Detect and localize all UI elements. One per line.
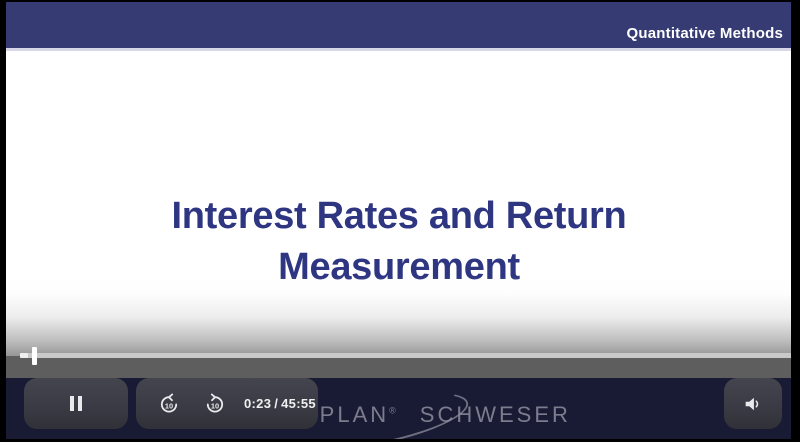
svg-text:10: 10 <box>165 401 173 410</box>
slide-stage: Quantitative Methods Interest Rates and … <box>6 0 792 442</box>
frame-border-top <box>0 0 800 2</box>
rewind-10-button[interactable]: 10 <box>154 389 184 419</box>
seek-bar-handle[interactable] <box>32 347 37 365</box>
rewind-10-icon: 10 <box>157 392 181 416</box>
forward-10-icon: 10 <box>203 392 227 416</box>
frame-border-left <box>0 0 6 442</box>
slide-title: Interest Rates and Return Measurement <box>6 191 792 293</box>
time-separator: / <box>271 396 281 411</box>
svg-text:10: 10 <box>211 401 219 410</box>
forward-10-button[interactable]: 10 <box>200 389 230 419</box>
time-display: 0:23/45:55 <box>244 396 316 411</box>
slide-title-line-2: Measurement <box>6 242 792 293</box>
seek-bar[interactable] <box>20 347 792 363</box>
current-time: 0:23 <box>244 396 271 411</box>
playback-controls-panel: 10 10 0:23/45:55 <box>136 378 318 429</box>
slide-header-title: Quantitative Methods <box>626 25 783 42</box>
total-time: 45:55 <box>281 396 316 411</box>
volume-button[interactable] <box>724 378 782 429</box>
frame-border-right <box>791 0 800 442</box>
slide-title-line-1: Interest Rates and Return <box>6 191 792 242</box>
volume-icon <box>742 393 764 415</box>
seek-bar-track[interactable] <box>20 353 792 358</box>
seek-bar-played <box>20 353 28 358</box>
pause-button[interactable] <box>24 378 128 429</box>
pause-icon <box>70 396 82 411</box>
video-player: Quantitative Methods Interest Rates and … <box>0 0 800 442</box>
